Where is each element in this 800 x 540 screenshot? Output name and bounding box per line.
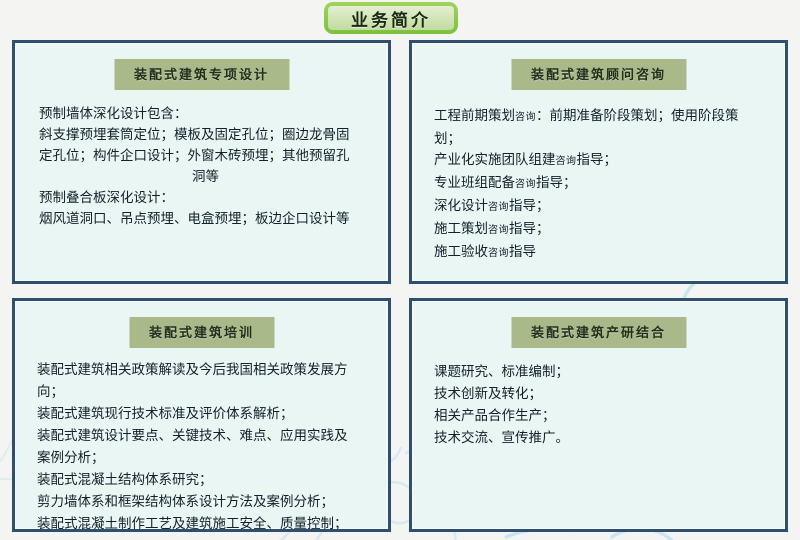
page-title: 业务简介 (351, 6, 431, 31)
panel-header-chip: 装配式建筑产研结合 (511, 317, 686, 348)
panel-grid: 装配式建筑专项设计 预制墙体深化设计包含：斜支撑预埋套筒定位；模板及固定孔位；圈… (12, 40, 788, 532)
text-annotation: 咨询 (488, 248, 509, 259)
text-segment: 工程前期策划 (434, 108, 515, 123)
page-banner: 业务简介 (0, 0, 800, 38)
text-line: 烟风道洞口、吊点预埋、电盒预埋；板边企口设计等 (39, 208, 372, 229)
panel-text-block: 装配式建筑相关政策解读及今后我国相关政策发展方向；装配式建筑现行技术标准及评价体… (37, 359, 372, 529)
text-line: 技术交流、宣传推广。 (434, 427, 769, 449)
text-line: 案例分析； (37, 447, 372, 469)
text-segment-tail: 指导； (509, 198, 550, 213)
text-line: 施工策划咨询指导； (434, 218, 769, 241)
panel-header-label: 装配式建筑专项设计 (134, 68, 269, 83)
panel-header-label: 装配式建筑顾问咨询 (531, 68, 666, 83)
text-line: 施工验收咨询指导 (434, 241, 769, 264)
banner-frame: 业务简介 (324, 2, 458, 34)
text-annotation: 咨询 (515, 179, 536, 190)
text-line: 定孔位；构件企口设计；外窗木砖预埋；其他预留孔 (39, 145, 372, 166)
text-line: 洞等 (39, 166, 372, 187)
text-line: 装配式混凝土结构体系研究； (37, 469, 372, 491)
text-segment-tail: 指导； (509, 221, 550, 236)
panel-body: 装配式建筑产研结合 课题研究、标准编制；技术创新及转化；相关产品合作生产；技术交… (412, 301, 785, 529)
text-segment-tail: 指导 (509, 244, 536, 259)
text-line: 装配式建筑设计要点、关键技术、难点、应用实践及 (37, 425, 372, 447)
text-line: 斜支撑预埋套筒定位；模板及固定孔位；圈边龙骨固 (39, 124, 372, 145)
panel-industry-research: 装配式建筑产研结合 课题研究、标准编制；技术创新及转化；相关产品合作生产；技术交… (409, 298, 788, 532)
panel-text-block: 课题研究、标准编制；技术创新及转化；相关产品合作生产；技术交流、宣传推广。 (434, 361, 769, 449)
panel-text-block: 工程前期策划咨询：前期准备阶段策划；使用阶段策划；产业化实施团队组建咨询指导；专… (434, 105, 769, 264)
text-annotation: 咨询 (488, 202, 509, 213)
text-segment: 施工策划 (434, 221, 488, 236)
text-line: 相关产品合作生产； (434, 405, 769, 427)
panel-consulting: 装配式建筑顾问咨询 工程前期策划咨询：前期准备阶段策划；使用阶段策划；产业化实施… (409, 40, 788, 284)
text-line: 预制叠合板深化设计： (39, 187, 372, 208)
text-line: 装配式建筑现行技术标准及评价体系解析； (37, 403, 372, 425)
panel-text-block: 预制墙体深化设计包含：斜支撑预埋套筒定位；模板及固定孔位；圈边龙骨固定孔位；构件… (39, 103, 372, 229)
text-annotation: 咨询 (515, 112, 536, 123)
text-line: 装配式混凝土制作工艺及建筑施工安全、质量控制； (37, 513, 372, 529)
panel-body: 装配式建筑培训 装配式建筑相关政策解读及今后我国相关政策发展方向；装配式建筑现行… (15, 301, 388, 529)
text-segment: 专业班组配备 (434, 175, 515, 190)
text-line: 剪力墙体系和框架结构体系设计方法及案例分析； (37, 491, 372, 513)
text-segment-tail: 指导； (577, 152, 618, 167)
page-root: 业务简介 装配式建筑专项设计 预制墙体深化设计包含：斜支撑预埋套筒定位；模板及固… (0, 0, 800, 540)
text-line: 划； (434, 128, 769, 149)
text-line: 预制墙体深化设计包含： (39, 103, 372, 124)
panel-header-chip: 装配式建筑培训 (129, 317, 274, 348)
text-line: 装配式建筑相关政策解读及今后我国相关政策发展方 (37, 359, 372, 381)
panel-header-chip: 装配式建筑专项设计 (114, 59, 289, 90)
panel-training: 装配式建筑培训 装配式建筑相关政策解读及今后我国相关政策发展方向；装配式建筑现行… (12, 298, 391, 532)
text-annotation: 咨询 (488, 225, 509, 236)
text-line: 专业班组配备咨询指导； (434, 172, 769, 195)
text-segment: 产业化实施团队组建 (434, 152, 556, 167)
text-line: 课题研究、标准编制； (434, 361, 769, 383)
banner-inner: 业务简介 (328, 6, 454, 30)
text-line: 工程前期策划咨询：前期准备阶段策划；使用阶段策 (434, 105, 769, 128)
panel-header-chip: 装配式建筑顾问咨询 (511, 59, 686, 90)
panel-body: 装配式建筑顾问咨询 工程前期策划咨询：前期准备阶段策划；使用阶段策划；产业化实施… (412, 43, 785, 281)
text-annotation: 咨询 (556, 156, 577, 167)
text-segment: 深化设计 (434, 198, 488, 213)
text-line: 产业化实施团队组建咨询指导； (434, 149, 769, 172)
text-line: 技术创新及转化； (434, 383, 769, 405)
panel-body: 装配式建筑专项设计 预制墙体深化设计包含：斜支撑预埋套筒定位；模板及固定孔位；圈… (15, 43, 388, 281)
panel-header-label: 装配式建筑培训 (149, 326, 254, 341)
panel-specialized-design: 装配式建筑专项设计 预制墙体深化设计包含：斜支撑预埋套筒定位；模板及固定孔位；圈… (12, 40, 391, 284)
text-line: 向； (37, 381, 372, 403)
text-line: 深化设计咨询指导； (434, 195, 769, 218)
panel-header-label: 装配式建筑产研结合 (531, 326, 666, 341)
text-segment-tail: 指导； (536, 175, 577, 190)
text-segment-tail: ：前期准备阶段策划；使用阶段策 (536, 108, 739, 123)
text-segment: 施工验收 (434, 244, 488, 259)
